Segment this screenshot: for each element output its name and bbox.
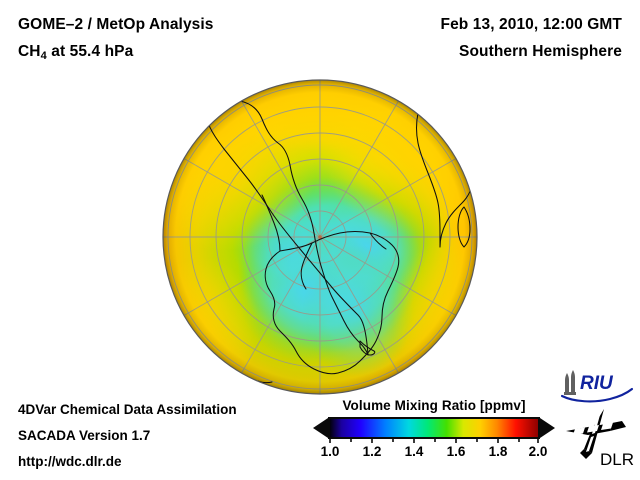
colorbar: Volume Mixing Ratio [ppmv] [312, 398, 556, 462]
dlr-logo: DLR [562, 407, 636, 469]
riu-tower-icon [564, 370, 576, 395]
colorbar-tick-label: 1.6 [447, 444, 466, 459]
orthographic-projection [162, 79, 478, 395]
datetime-label: Feb 13, 2010, 12:00 GMT [441, 16, 623, 34]
colorbar-tick-labels: 1.0 1.2 1.4 1.6 1.8 2.0 [312, 444, 556, 462]
globe-map [162, 79, 478, 395]
species-level-label: CH4 at 55.4 hPa [18, 43, 133, 62]
credit-line-model: 4DVar Chemical Data Assimilation [18, 402, 237, 417]
riu-logo-text: RIU [580, 373, 614, 394]
colorbar-tick-label: 1.2 [363, 444, 382, 459]
colorbar-tick-label: 1.0 [321, 444, 340, 459]
colorbar-tick-label: 2.0 [529, 444, 548, 459]
credit-line-url[interactable]: http://wdc.dlr.de [18, 454, 122, 469]
species-suffix: at 55.4 hPa [47, 43, 134, 60]
credit-line-version: SACADA Version 1.7 [18, 428, 150, 443]
figure-canvas: GOME–2 / MetOp Analysis CH4 at 55.4 hPa … [0, 0, 640, 480]
colorbar-title: Volume Mixing Ratio [ppmv] [312, 398, 556, 413]
species-prefix: CH [18, 43, 41, 60]
colorbar-gradient [312, 417, 556, 443]
page-title: GOME–2 / MetOp Analysis [18, 16, 214, 34]
dlr-logo-text: DLR [600, 450, 634, 469]
colorbar-tick-label: 1.4 [405, 444, 424, 459]
riu-logo: RIU [560, 370, 634, 404]
hemisphere-label: Southern Hemisphere [459, 43, 622, 61]
colorbar-extend-high [540, 418, 555, 438]
colorbar-extend-low [313, 418, 328, 438]
colorbar-tick-label: 1.8 [489, 444, 508, 459]
